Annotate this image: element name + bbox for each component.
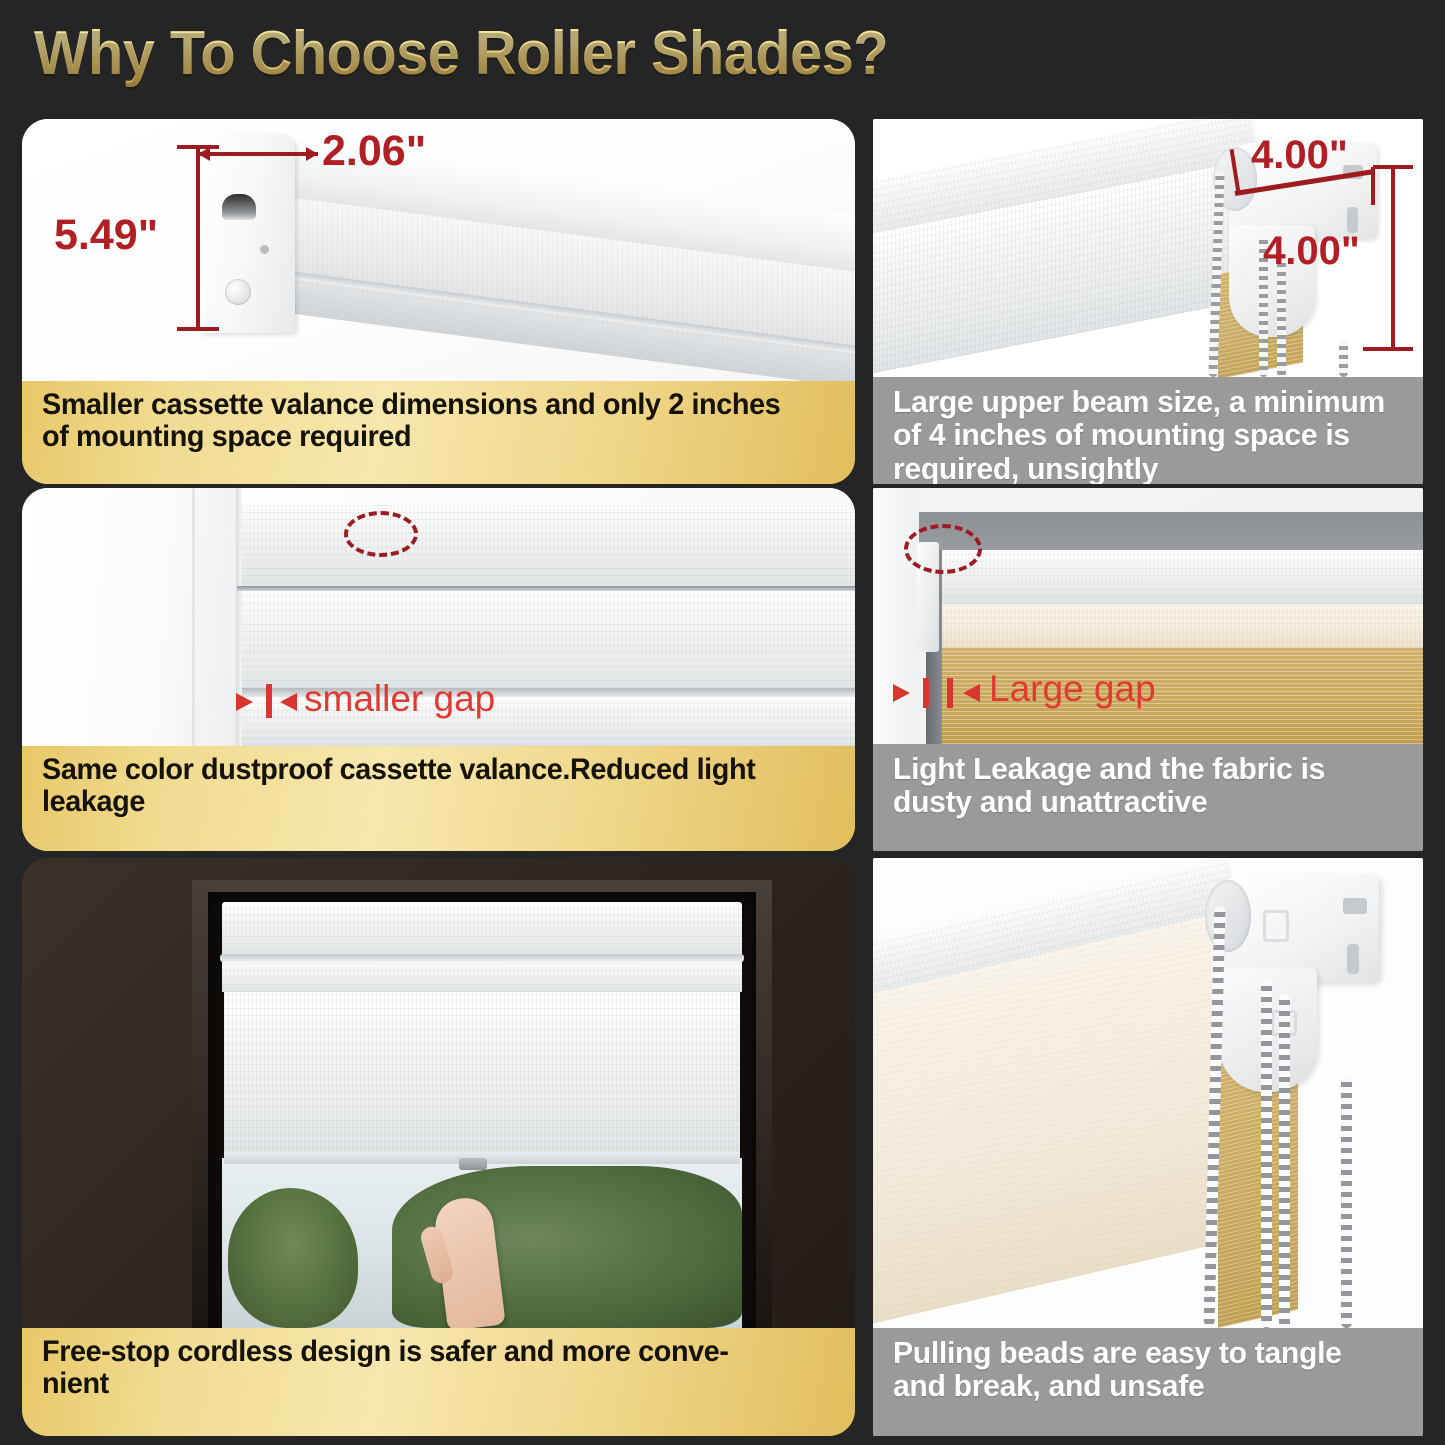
beaded-chain-2 [1261, 980, 1272, 1328]
gap-highlight-ellipse [904, 524, 982, 574]
smaller-gap-label: smaller gap [304, 678, 495, 720]
shade-fabric [224, 992, 740, 1156]
cassette-valance-photo: 2.06" 5.49" [22, 119, 855, 381]
caption-text: Light Leakage and the fabric is dusty an… [893, 752, 1394, 819]
caption-dustproof-cassette-valance: Same color dustproof cassette valance.Re… [22, 746, 855, 851]
width-dimension-label: 2.06" [322, 127, 426, 176]
bracket-clip-icon-upper [1263, 910, 1289, 942]
gap-indicator-bar [923, 678, 929, 708]
caption-cassette-valance-dimensions: Smaller cassette valance dimensions and … [22, 381, 855, 484]
beaded-chain-4 [1339, 341, 1348, 377]
caption-text: Large upper beam size, a minimum of 4 in… [893, 385, 1394, 484]
cassette-valance-header [242, 504, 855, 590]
caption-light-leakage-dusty-fabric: Light Leakage and the fabric is dusty an… [873, 744, 1423, 851]
shade-pull-tab [459, 1158, 487, 1170]
gap-indicator-bar-2 [947, 678, 953, 708]
cassette-valance [222, 902, 742, 958]
panel-dustproof-cassette-valance[interactable]: smaller gap Same color dustproof cassett… [22, 488, 855, 851]
ceiling-shadow [917, 512, 1423, 554]
beaded-chain-4 [1341, 1076, 1352, 1328]
caption-text: Same color dustproof cassette valance.Re… [42, 754, 809, 819]
bracket-mounting-slot-2 [1347, 944, 1359, 974]
panel-pulling-beads-unsafe[interactable]: Pulling beads are easy to tangle and bre… [873, 858, 1423, 1436]
pulling-beads-photo [873, 858, 1423, 1328]
caption-line-2: nient [42, 1367, 109, 1400]
valance-bottom-edge [220, 954, 744, 962]
beam-height-dimension-line [1391, 165, 1395, 351]
end-cap-pin [260, 245, 269, 254]
gap-arrow-right [280, 693, 297, 711]
valance-lower-band [222, 962, 742, 992]
roller-tube [917, 550, 1423, 604]
panel-cassette-valance-dimensions[interactable]: 2.06" 5.49" Smaller cassette valance dim… [22, 119, 855, 484]
bracket-mounting-slot-1 [1343, 898, 1367, 914]
beam-height-tick-bottom [1363, 347, 1413, 351]
width-dimension-arrow-right [306, 147, 318, 161]
gap-arrow-left [893, 684, 910, 702]
window-frame-edge [192, 488, 195, 746]
caption-text: Pulling beads are easy to tangle and bre… [893, 1336, 1394, 1403]
caption-line-1: Free-stop cordless design is safer and m… [42, 1335, 729, 1368]
gap-highlight-ellipse [344, 511, 418, 557]
panel-free-stop-cordless-design[interactable]: Free-stop cordless design is safer and m… [22, 858, 855, 1436]
caption-text: Free-stop cordless design is safer and m… [42, 1336, 809, 1401]
width-dimension-line [198, 152, 318, 156]
valance-end-cap [200, 133, 295, 333]
large-beam-photo: 4.00" 4.00" [873, 119, 1423, 377]
end-cap-slot [222, 194, 256, 220]
panel-light-leakage-dusty-fabric[interactable]: Large gap Light Leakage and the fabric i… [873, 488, 1423, 851]
caption-text: Smaller cassette valance dimensions and … [42, 389, 809, 454]
height-dimension-tick-bottom [177, 327, 219, 331]
panel-large-upper-beam[interactable]: 4.00" 4.00" Large upper beam size, a min… [873, 119, 1423, 484]
beam-width-tick-right [1371, 167, 1375, 205]
wall-surface [873, 488, 919, 744]
page-title: Why To Choose Roller Shades? [34, 18, 888, 89]
dustproof-valance-photo: smaller gap [22, 488, 855, 746]
gap-arrow-left [236, 693, 253, 711]
page-header: Why To Choose Roller Shades? [0, 0, 1445, 110]
height-dimension-line [196, 145, 200, 331]
height-dimension-label: 5.49" [54, 211, 158, 260]
window-frame-trim [22, 488, 240, 746]
large-gap-label: Large gap [989, 668, 1156, 710]
roller-end-ring [1205, 880, 1251, 952]
caption-large-upper-beam: Large upper beam size, a minimum of 4 in… [873, 377, 1423, 484]
gap-indicator-bar [266, 684, 272, 718]
beam-height-dimension-label: 4.00" [1263, 229, 1360, 274]
height-dimension-tick-top [177, 145, 219, 149]
beam-height-tick-top [1373, 165, 1413, 169]
end-cap-screw [225, 279, 251, 305]
beaded-chain-3 [1279, 994, 1290, 1328]
comparison-grid: 2.06" 5.49" Smaller cassette valance dim… [0, 110, 1445, 1445]
cordless-shade-room-photo [22, 858, 855, 1328]
caption-pulling-beads-unsafe: Pulling beads are easy to tangle and bre… [873, 1328, 1423, 1436]
caption-free-stop-cordless-design: Free-stop cordless design is safer and m… [22, 1328, 855, 1436]
tree-foliage-left [228, 1188, 358, 1328]
shade-top-strip [935, 604, 1423, 648]
beam-width-dimension-label: 4.00" [1251, 133, 1348, 178]
gap-arrow-right [963, 684, 980, 702]
light-leakage-photo: Large gap [873, 488, 1423, 744]
